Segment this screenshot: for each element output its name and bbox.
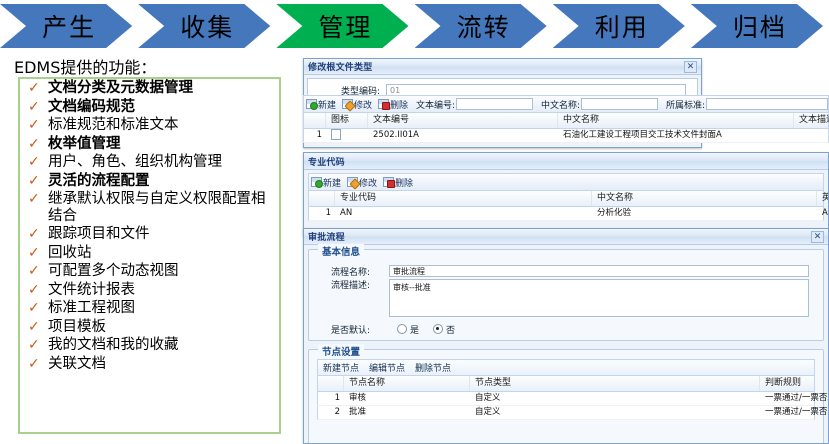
column-header[interactable] xyxy=(309,191,335,206)
check-icon: ✓ xyxy=(28,356,48,374)
node-actions-toolbar[interactable]: 新建节点编辑节点删除节点 xyxy=(317,359,815,375)
feature-label: 用户、角色、组织机构管理 xyxy=(48,154,222,171)
table-cell: 2502.II01A xyxy=(368,129,558,142)
feature-label: 标准工程视图 xyxy=(48,300,135,317)
table-cell: AN xyxy=(335,207,592,220)
check-icon: ✓ xyxy=(28,282,48,300)
dialog-title: 审批流程 xyxy=(308,230,345,243)
check-icon: ✓ xyxy=(28,245,48,263)
toolbar-button-label: 删除 xyxy=(395,176,413,189)
feature-label: 跟踪项目和文件 xyxy=(48,226,150,243)
toolbar-button-label: 修改 xyxy=(359,176,377,189)
table-cell xyxy=(794,129,829,142)
filter-input[interactable] xyxy=(706,98,828,110)
radio-button[interactable] xyxy=(397,324,407,334)
feature-item: ✓跟踪项目和文件 xyxy=(20,226,279,244)
process-step-label: 收集 xyxy=(174,8,234,44)
process-step-4: 流转 xyxy=(415,4,547,48)
major-code-grid-header: 专业代码中文名称英文名称 xyxy=(308,190,824,207)
column-header[interactable] xyxy=(304,113,326,128)
check-icon: ✓ xyxy=(28,319,48,337)
flow-desc-textarea[interactable]: 审核--批准 xyxy=(389,279,809,317)
is-default-label: 是否默认: xyxy=(317,323,389,336)
toolbar-button-修改[interactable]: 修改 xyxy=(342,98,372,111)
feature-label: 回收站 xyxy=(48,245,92,262)
process-step-1: 产生 xyxy=(0,4,132,48)
is-default-radio-group[interactable]: 是否 xyxy=(389,323,469,336)
dialog-titlebar[interactable]: 审批流程 ✕ xyxy=(304,229,828,245)
toolbar-button-删除[interactable]: 删除 xyxy=(383,176,413,189)
check-icon: ✓ xyxy=(28,173,48,191)
dialog-major-code[interactable]: 专业代码 新建修改删除 专业代码中文名称英文名称 1AN分析化验Analysis… xyxy=(303,152,829,236)
process-step-label: 管理 xyxy=(312,8,372,44)
basic-info-legend: 基本信息 xyxy=(318,244,364,258)
table-row[interactable]: 2批准自定义一票通过/一票否决 xyxy=(317,406,815,420)
feature-label: 继承默认权限与自定义权限配置相结合 xyxy=(48,191,279,225)
table-cell: 石油化工建设工程项目交工技术文件封面A xyxy=(558,129,794,142)
feature-item: ✓回收站 xyxy=(20,245,279,263)
feature-item: ✓灵活的流程配置 xyxy=(20,173,279,191)
feature-item: ✓用户、角色、组织机构管理 xyxy=(20,154,279,172)
process-step-5: 利用 xyxy=(553,4,685,48)
file-type-toolbar[interactable]: 新建修改删除文本编号:中文名称:所属标准: xyxy=(303,95,829,112)
close-icon[interactable]: ✕ xyxy=(811,231,824,243)
dialog-titlebar[interactable]: 修改根文件类型 ✕ xyxy=(304,59,701,75)
radio-label: 否 xyxy=(446,323,455,336)
feature-label: 项目模板 xyxy=(48,319,106,336)
feature-list: ✓文档分类及元数据管理✓文档编码规范✓标准规范和标准文本✓枚举值管理✓用户、角色… xyxy=(18,77,281,434)
feature-item: ✓继承默认权限与自定义权限配置相结合 xyxy=(20,191,279,225)
radio-label: 是 xyxy=(410,323,419,336)
column-header[interactable]: 节点类型 xyxy=(470,376,760,391)
toolbar-button-label: 删除 xyxy=(390,98,408,111)
dialog-body: 新建修改删除 专业代码中文名称英文名称 1AN分析化验Analysis Assa… xyxy=(304,170,828,224)
check-icon: ✓ xyxy=(28,117,48,135)
radio-option-是[interactable]: 是 xyxy=(397,323,419,336)
toolbar-button-新建[interactable]: 新建 xyxy=(311,176,341,189)
column-header[interactable]: 节点名称 xyxy=(344,376,470,391)
process-step-label: 利用 xyxy=(589,8,649,44)
flow-name-input[interactable]: 审批流程 xyxy=(389,265,809,277)
feature-item: ✓标准工程视图 xyxy=(20,300,279,318)
check-icon: ✓ xyxy=(28,136,48,154)
column-header[interactable]: 判断规则 xyxy=(760,376,829,391)
file-type-grid-panel: 新建修改删除文本编号:中文名称:所属标准: 图标文本编号中文名称文本描述 125… xyxy=(303,95,829,150)
feature-item: ✓我的文档和我的收藏 xyxy=(20,337,279,355)
toolbar-button-label: 新建 xyxy=(323,176,341,189)
column-header[interactable] xyxy=(318,376,344,391)
node-action-新建节点[interactable]: 新建节点 xyxy=(323,361,359,374)
column-header[interactable]: 文本编号 xyxy=(368,113,558,128)
toolbar-button-label: 新建 xyxy=(318,98,336,111)
feature-item: ✓标准规范和标准文本 xyxy=(20,117,279,135)
page-title: EDMS提供的功能： xyxy=(14,54,156,78)
check-icon: ✓ xyxy=(28,154,48,172)
node-action-删除节点[interactable]: 删除节点 xyxy=(415,361,451,374)
radio-button[interactable] xyxy=(433,324,443,334)
toolbar-button-label: 修改 xyxy=(354,98,372,111)
filter-label: 文本编号: xyxy=(416,98,455,111)
column-header[interactable]: 图标 xyxy=(326,113,368,128)
table-cell: 一票通过/一票否决 xyxy=(760,392,829,405)
feature-label: 枚举值管理 xyxy=(48,136,121,153)
node-grid-header: 节点名称节点类型判断规则 xyxy=(317,375,815,392)
feature-label: 我的文档和我的收藏 xyxy=(48,337,179,354)
check-icon: ✓ xyxy=(28,263,48,281)
table-cell: 1 xyxy=(309,207,335,220)
dialog-body: 基本信息 流程名称: 审批流程 流程描述: 审核--批准 是否默认: 是否 节点… xyxy=(304,245,828,444)
feature-label: 文档编码规范 xyxy=(48,99,135,116)
dialog-titlebar[interactable]: 专业代码 xyxy=(304,153,828,170)
feature-item: ✓项目模板 xyxy=(20,319,279,337)
table-row[interactable]: 1审核自定义一票通过/一票否决 xyxy=(317,392,815,406)
feature-item: ✓文件统计报表 xyxy=(20,282,279,300)
file-type-grid-header: 图标文本编号中文名称文本描述 xyxy=(303,112,829,129)
filter-input[interactable] xyxy=(456,98,533,110)
edit-icon xyxy=(342,99,353,109)
table-cell: 一票通过/一票否决 xyxy=(760,406,829,419)
table-cell: 自定义 xyxy=(470,406,760,419)
flow-desc-label: 流程描述: xyxy=(317,279,389,293)
dialog-workflow[interactable]: 审批流程 ✕ 基本信息 流程名称: 审批流程 流程描述: 审核--批准 是否默认… xyxy=(303,228,829,444)
check-icon: ✓ xyxy=(28,191,48,209)
toolbar-button-删除[interactable]: 删除 xyxy=(378,98,408,111)
feature-label: 文档分类及元数据管理 xyxy=(48,80,193,97)
table-cell: 1 xyxy=(318,392,344,405)
table-cell: 1 xyxy=(304,129,326,142)
add-icon xyxy=(311,177,322,187)
column-header[interactable]: 专业代码 xyxy=(335,191,592,206)
flow-name-label: 流程名称: xyxy=(317,265,389,278)
check-icon: ✓ xyxy=(28,337,48,355)
check-icon: ✓ xyxy=(28,300,48,318)
table-cell: 自定义 xyxy=(470,392,760,405)
dialog-title: 专业代码 xyxy=(308,155,345,168)
feature-label: 文件统计报表 xyxy=(48,282,135,299)
column-header[interactable]: 文本描述 xyxy=(794,113,829,128)
file-icon xyxy=(326,129,368,142)
column-header[interactable]: 英文名称 xyxy=(817,191,829,206)
column-header[interactable]: 中文名称 xyxy=(558,113,794,128)
feature-item: ✓关联文档 xyxy=(20,356,279,374)
table-row[interactable]: 12502.II01A石油化工建设工程项目交工技术文件封面A xyxy=(303,129,829,143)
filter-label: 中文名称: xyxy=(541,98,580,111)
feature-item: ✓枚举值管理 xyxy=(20,136,279,154)
table-cell: 分析化验 xyxy=(592,207,817,220)
feature-label: 灵活的流程配置 xyxy=(48,173,150,190)
node-action-编辑节点[interactable]: 编辑节点 xyxy=(369,361,405,374)
dialog-title: 修改根文件类型 xyxy=(308,60,372,73)
process-step-3: 管理 xyxy=(276,4,408,48)
close-icon[interactable]: ✕ xyxy=(684,61,697,73)
delete-icon xyxy=(378,99,389,109)
check-icon: ✓ xyxy=(28,226,48,244)
toolbar-button-新建[interactable]: 新建 xyxy=(306,98,336,111)
edit-icon xyxy=(347,177,358,187)
file-type-grid-rows[interactable]: 12502.II01A石油化工建设工程项目交工技术文件封面A xyxy=(303,129,829,143)
table-cell: 批准 xyxy=(344,406,470,419)
toolbar-button-修改[interactable]: 修改 xyxy=(347,176,377,189)
major-code-toolbar[interactable]: 新建修改删除 xyxy=(308,173,824,190)
feature-label: 标准规范和标准文本 xyxy=(48,117,179,134)
feature-item: ✓文档编码规范 xyxy=(20,99,279,117)
add-icon xyxy=(306,99,317,109)
left-panel: EDMS提供的功能： ✓文档分类及元数据管理✓文档编码规范✓标准规范和标准文本✓… xyxy=(0,52,296,444)
check-icon: ✓ xyxy=(28,80,48,98)
feature-item: ✓文档分类及元数据管理 xyxy=(20,80,279,98)
process-step-label: 产生 xyxy=(36,8,96,44)
process-step-6: 归档 xyxy=(691,4,823,48)
feature-label: 可配置多个动态视图 xyxy=(48,263,179,280)
column-header[interactable]: 中文名称 xyxy=(592,191,817,206)
basic-info-fieldset: 基本信息 流程名称: 审批流程 流程描述: 审核--批准 是否默认: 是否 xyxy=(308,249,824,341)
check-icon: ✓ xyxy=(28,99,48,117)
filter-input[interactable] xyxy=(581,98,658,110)
radio-option-否[interactable]: 否 xyxy=(433,323,455,336)
delete-icon xyxy=(383,177,394,187)
process-step-label: 归档 xyxy=(727,8,787,44)
table-cell: 2 xyxy=(318,406,344,419)
node-settings-legend: 节点设置 xyxy=(318,344,364,358)
node-grid-rows[interactable]: 1审核自定义一票通过/一票否决2批准自定义一票通过/一票否决 xyxy=(317,392,815,420)
process-flow-banner: 产生收集管理流转利用归档 xyxy=(0,4,829,48)
filter-label: 所属标准: xyxy=(666,98,705,111)
process-step-label: 流转 xyxy=(451,8,511,44)
table-cell: Analysis Assay xyxy=(817,207,829,220)
process-step-2: 收集 xyxy=(138,4,270,48)
node-settings-fieldset: 节点设置 新建节点编辑节点删除节点 节点名称节点类型判断规则 1审核自定义一票通… xyxy=(308,349,824,444)
table-cell: 审核 xyxy=(344,392,470,405)
feature-label: 关联文档 xyxy=(48,356,106,373)
table-row[interactable]: 1AN分析化验Analysis Assay xyxy=(308,207,824,221)
major-code-grid-rows[interactable]: 1AN分析化验Analysis Assay xyxy=(308,207,824,221)
feature-item: ✓可配置多个动态视图 xyxy=(20,263,279,281)
